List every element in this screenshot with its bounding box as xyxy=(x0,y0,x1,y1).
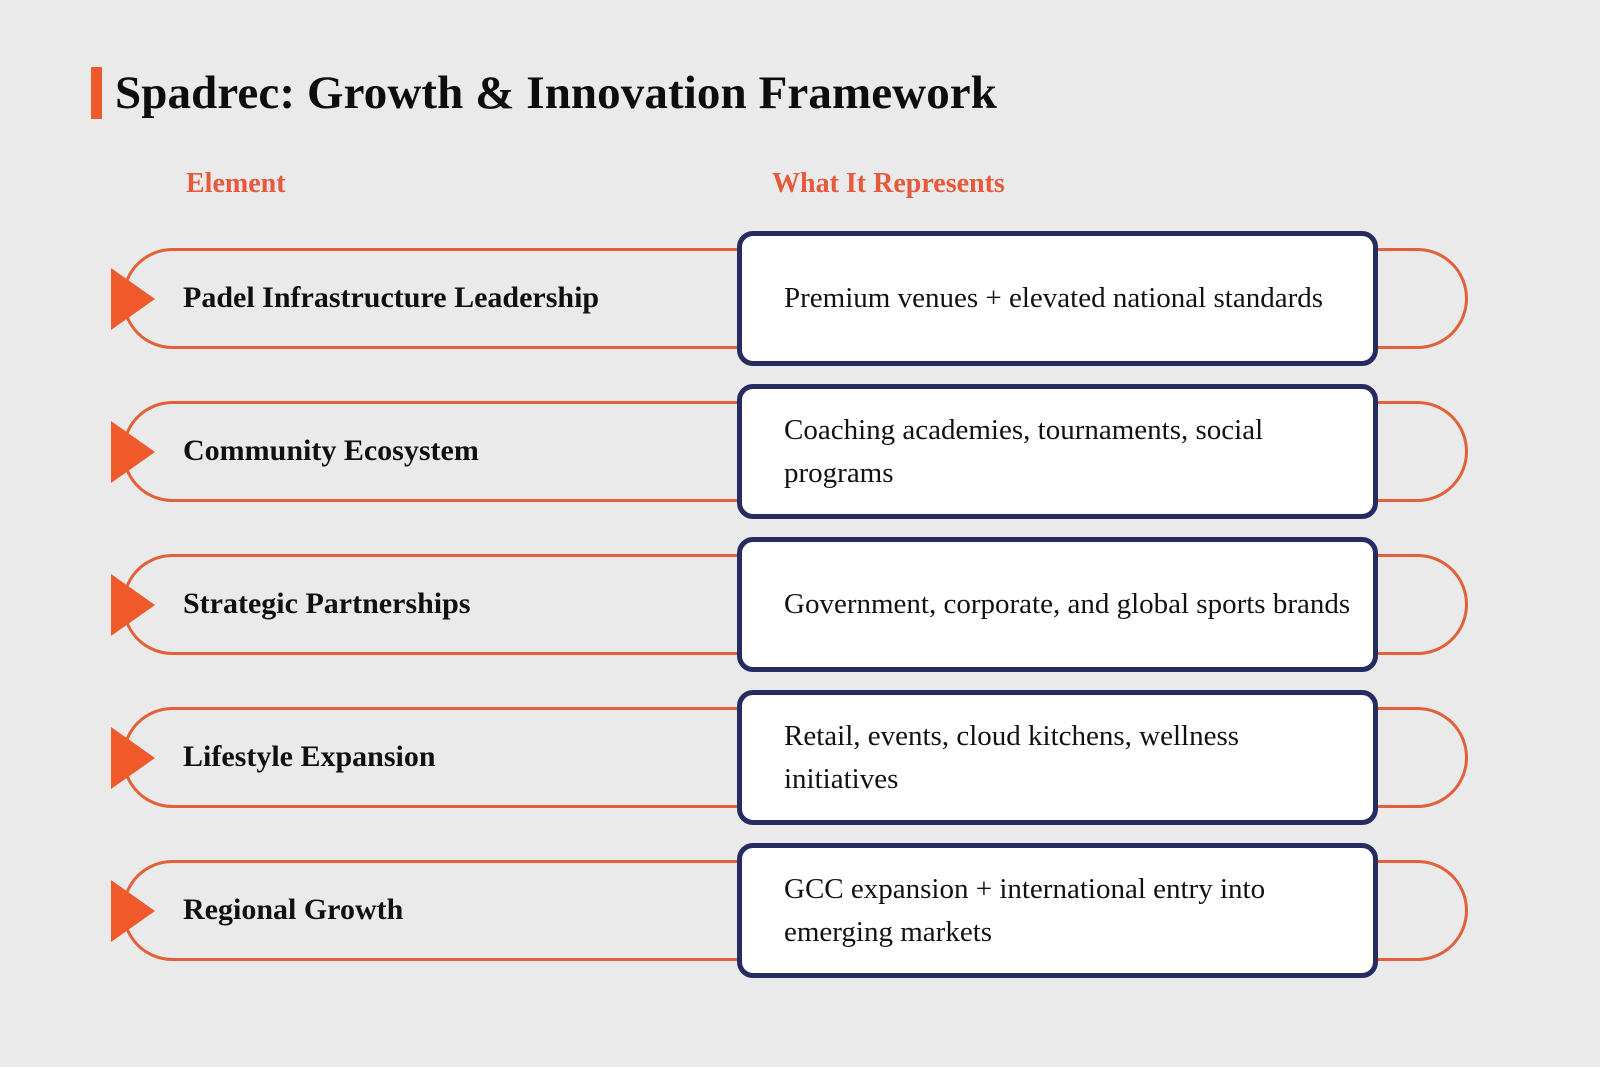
framework-row: Lifestyle ExpansionRetail, events, cloud… xyxy=(0,681,1600,834)
represents-card: Premium venues + elevated national stand… xyxy=(737,231,1378,366)
represents-text: Retail, events, cloud kitchens, wellness… xyxy=(784,715,1353,799)
represents-card: Government, corporate, and global sports… xyxy=(737,537,1378,672)
framework-row: Padel Infrastructure LeadershipPremium v… xyxy=(0,222,1600,375)
arrow-right-icon xyxy=(111,268,155,330)
represents-text: Government, corporate, and global sports… xyxy=(784,583,1350,625)
element-label: Padel Infrastructure Leadership xyxy=(183,248,723,349)
element-label: Strategic Partnerships xyxy=(183,554,723,655)
framework-rows: Padel Infrastructure LeadershipPremium v… xyxy=(0,0,1600,1067)
arrow-right-icon xyxy=(111,727,155,789)
represents-text: Premium venues + elevated national stand… xyxy=(784,277,1323,319)
element-label: Regional Growth xyxy=(183,860,723,961)
arrow-right-icon xyxy=(111,421,155,483)
element-label: Community Ecosystem xyxy=(183,401,723,502)
framework-row: Regional GrowthGCC expansion + internati… xyxy=(0,834,1600,987)
represents-card: Coaching academies, tournaments, social … xyxy=(737,384,1378,519)
represents-text: Coaching academies, tournaments, social … xyxy=(784,409,1353,493)
framework-row: Community EcosystemCoaching academies, t… xyxy=(0,375,1600,528)
arrow-right-icon xyxy=(111,880,155,942)
arrow-right-icon xyxy=(111,574,155,636)
diagram-canvas: Spadrec: Growth & Innovation Framework E… xyxy=(0,0,1600,1067)
element-label: Lifestyle Expansion xyxy=(183,707,723,808)
represents-card: GCC expansion + international entry into… xyxy=(737,843,1378,978)
represents-card: Retail, events, cloud kitchens, wellness… xyxy=(737,690,1378,825)
framework-row: Strategic PartnershipsGovernment, corpor… xyxy=(0,528,1600,681)
represents-text: GCC expansion + international entry into… xyxy=(784,868,1353,952)
